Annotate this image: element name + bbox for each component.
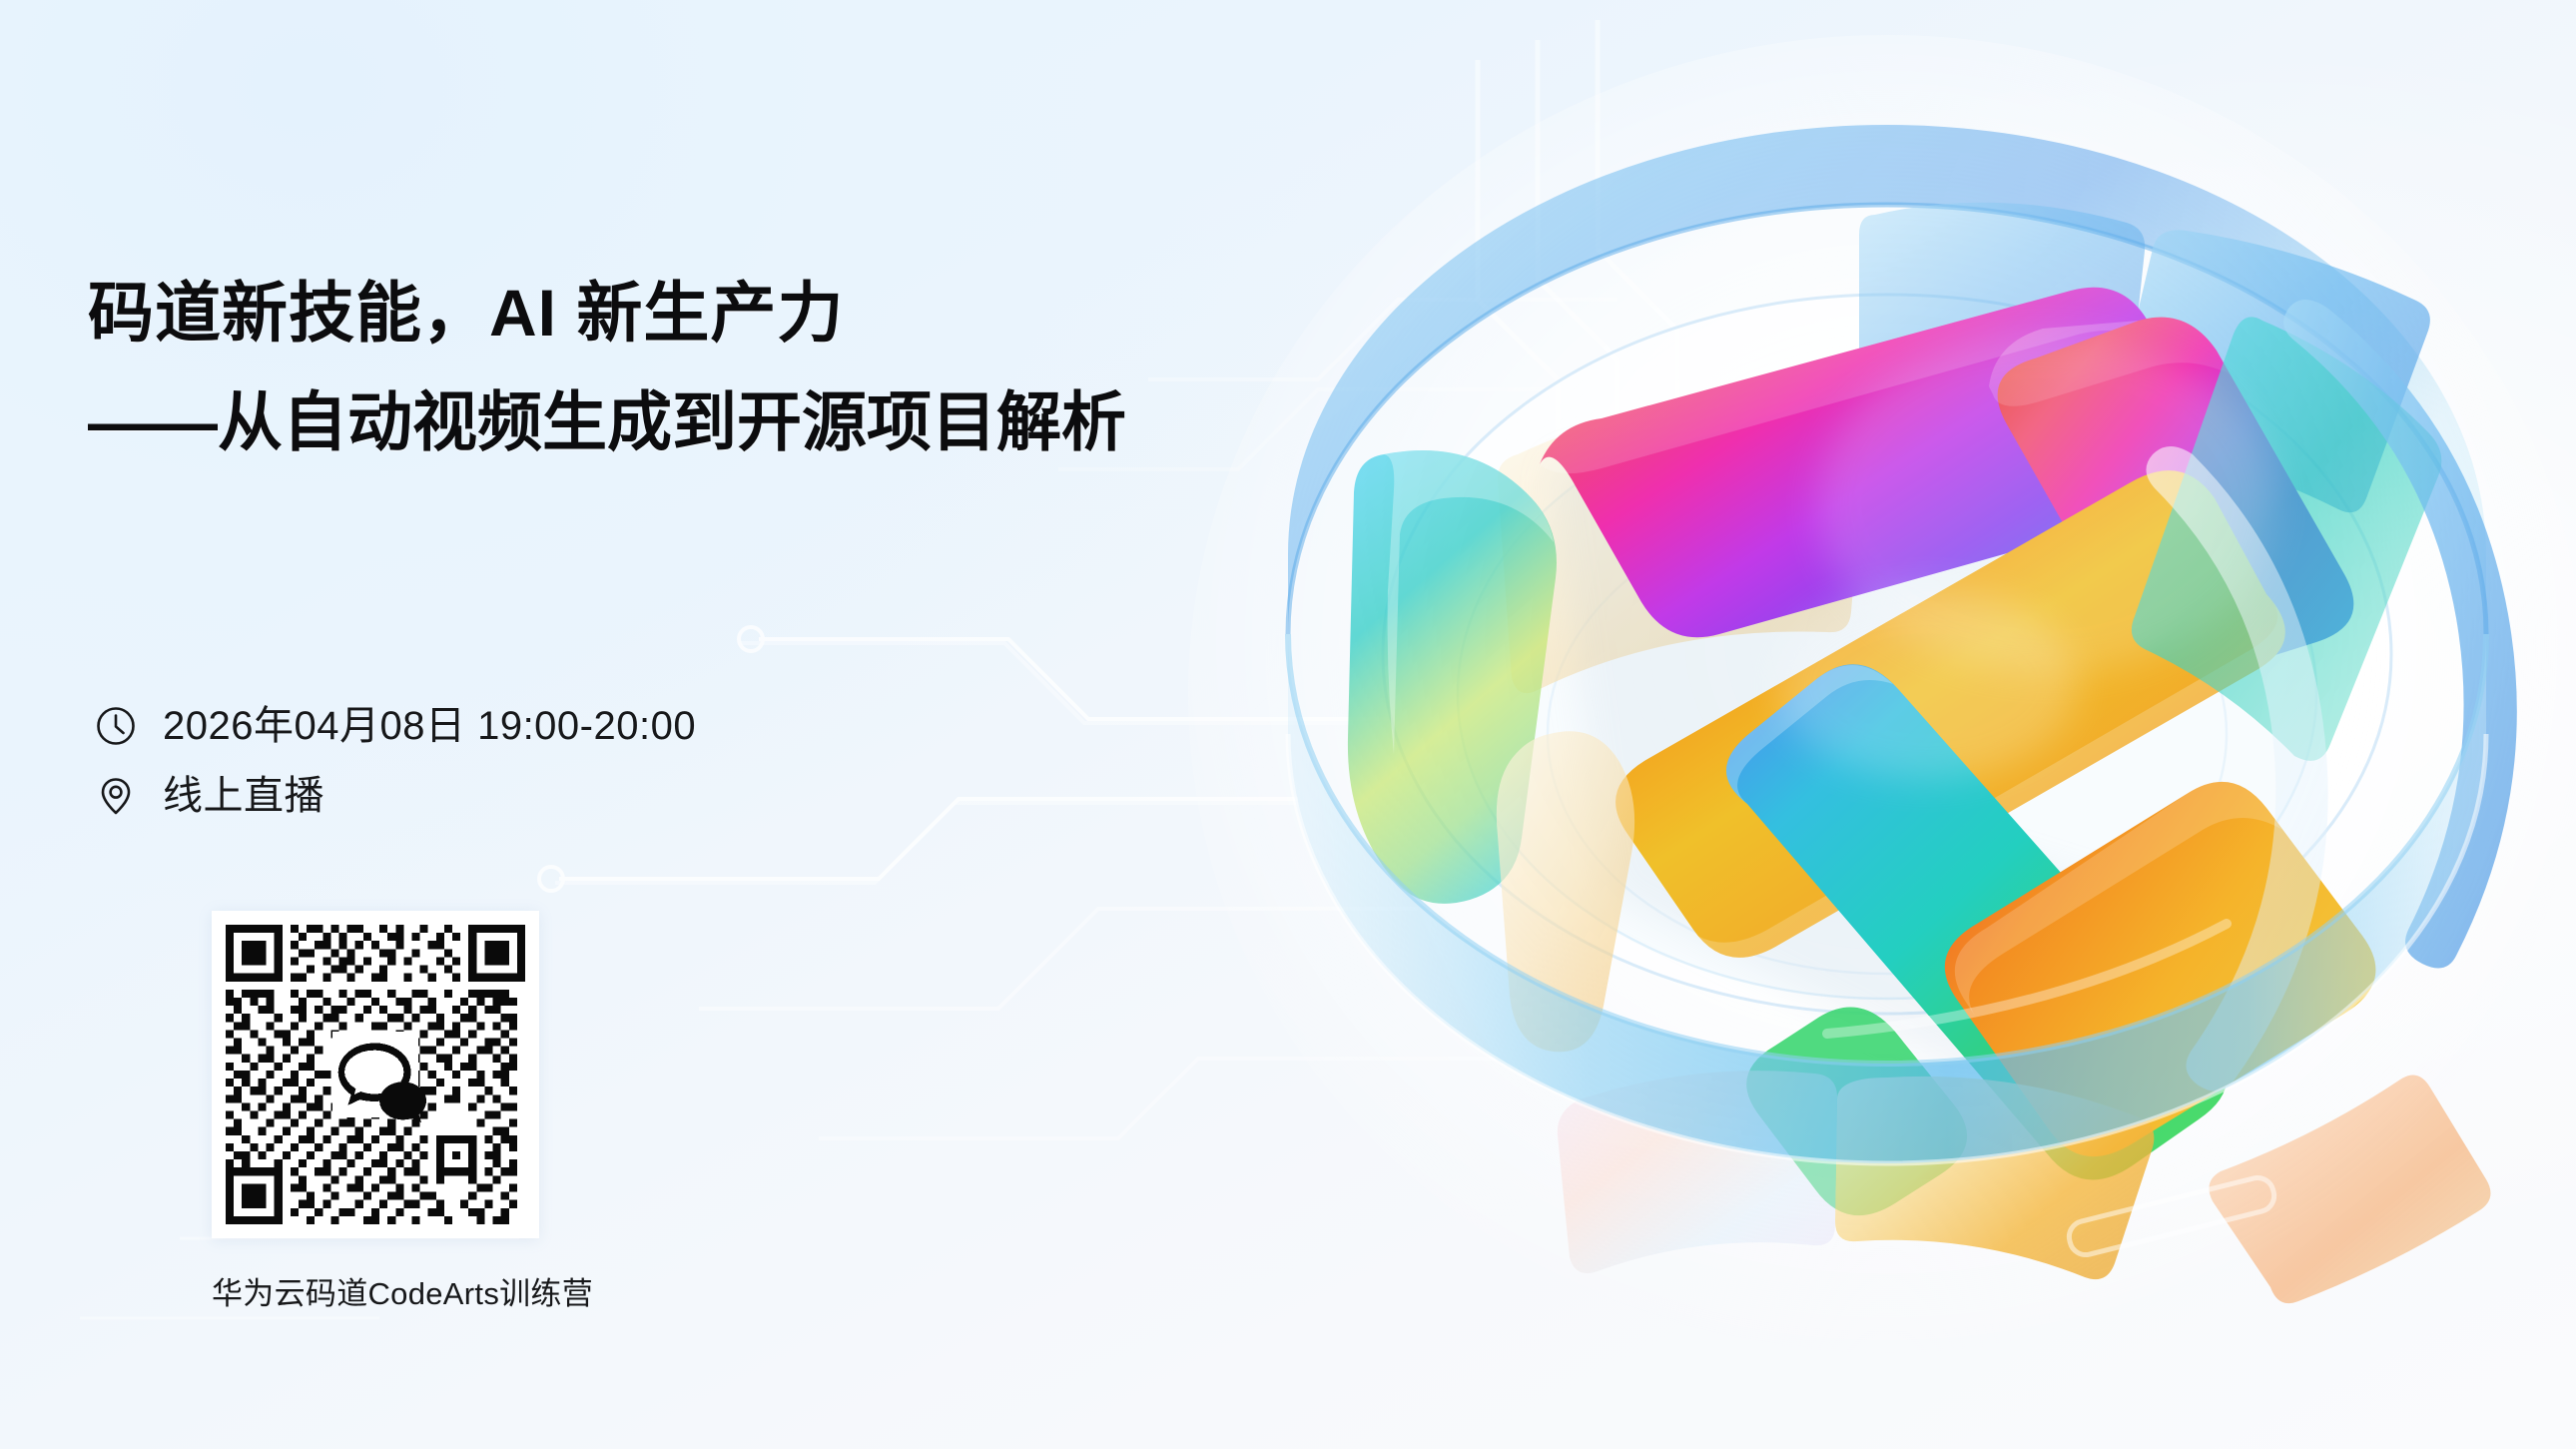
event-location: 线上直播	[163, 774, 324, 818]
ribbon-arm-magenta	[1540, 288, 2224, 638]
event-datetime: 2026年04月08日 19:00-20:00	[163, 704, 696, 748]
glass-dish-back	[1383, 295, 2391, 1014]
glass-panel-group-front	[1348, 300, 2517, 1303]
glass-panel-group-back	[1498, 203, 2430, 693]
panel-clear-arc	[2146, 446, 2327, 1091]
meta-block: 2026年04月08日 19:00-20:00 线上直播	[95, 704, 696, 844]
panel-cream-swoosh	[1497, 731, 1634, 1052]
panel-right-outer-band	[2283, 300, 2517, 969]
poster-root: 码道新技能，AI 新生产力 ——从自动视频生成到开源项目解析 2026年04月0…	[0, 0, 2576, 1449]
panel-cream-left	[1498, 388, 1867, 693]
outer-ring-back	[1288, 125, 2486, 634]
artwork-halo	[1188, 35, 2576, 1353]
ribbon-arm-amber	[1945, 782, 2376, 1156]
panel-amber-front	[1835, 1077, 2154, 1279]
panel-top-right	[2112, 230, 2430, 512]
meta-row-location: 线上直播	[95, 774, 696, 818]
title-block: 码道新技能，AI 新生产力 ——从自动视频生成到开源项目解析	[88, 280, 1186, 454]
location-pin-icon	[95, 775, 137, 817]
ribbon-arm-cyan-green	[1726, 664, 2227, 1179]
ribbon-band-orange	[1615, 470, 2285, 958]
qr-code[interactable]	[212, 911, 539, 1238]
panel-iris-front	[1558, 1071, 1837, 1273]
outer-ring-front	[1288, 634, 2486, 1258]
panel-peach-front	[2209, 1076, 2490, 1304]
ribbon-nub-green	[1746, 1008, 1967, 1216]
page-title-line2: ——从自动视频生成到开源项目解析	[88, 389, 1186, 454]
qr-code-matrix	[226, 925, 525, 1224]
panel-teal-leaf	[1348, 450, 1557, 904]
glass-ribbon-artwork	[1188, 35, 2576, 1449]
qr-caption: 华为云码道CodeArts训练营	[212, 1268, 539, 1313]
ribbon-sculpture	[1540, 288, 2375, 1215]
ribbon-fold-purple	[1998, 318, 2354, 681]
content-column: 码道新技能，AI 新生产力 ——从自动视频生成到开源项目解析 2026年04月0…	[0, 0, 1198, 1449]
meta-row-datetime: 2026年04月08日 19:00-20:00	[95, 704, 696, 748]
panel-top-left	[1859, 203, 2145, 418]
qr-block: 华为云码道CodeArts训练营	[212, 911, 551, 1313]
light-bloom	[1817, 335, 2276, 674]
artwork-svg	[1188, 35, 2576, 1449]
wechat-bubble-icon	[332, 1032, 426, 1122]
panel-right-teal	[2132, 317, 2441, 761]
clock-icon	[95, 705, 137, 747]
page-title-line1: 码道新技能，AI 新生产力	[88, 280, 1186, 346]
